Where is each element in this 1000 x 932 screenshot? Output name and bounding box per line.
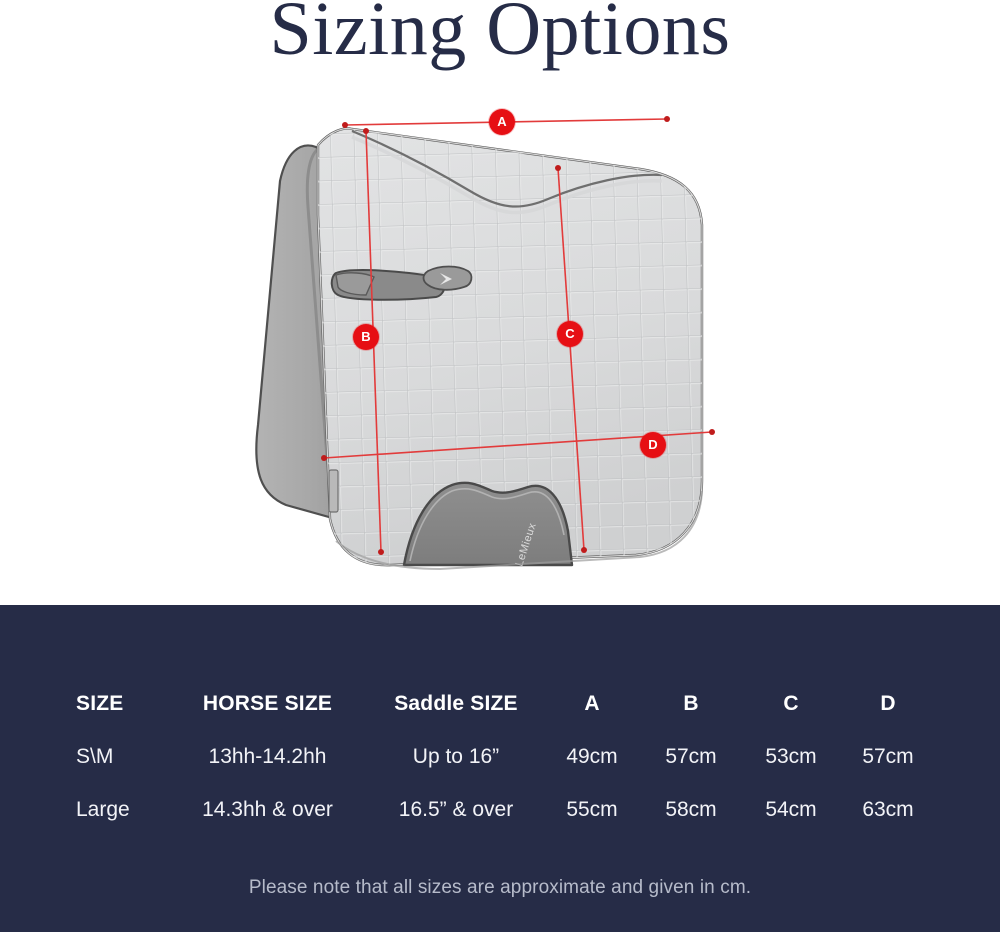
table-row: S\M 13hh-14.2hh Up to 16” 49cm 57cm 53cm…: [0, 730, 1000, 783]
cell-c: 53cm: [756, 730, 826, 783]
size-disclaimer-note: Please note that all sizes are approxima…: [0, 877, 1000, 899]
pad-logo-tab: [424, 267, 472, 290]
measure-marker-b: B: [353, 324, 379, 350]
saddle-pad-illustration: LeMieux LeMieux: [0, 95, 1000, 605]
cell-b: 58cm: [656, 783, 726, 836]
page-title: Sizing Options: [0, 0, 1000, 74]
cell-a: 49cm: [557, 730, 627, 783]
column-header-horse-size: HORSE SIZE: [196, 677, 339, 730]
measure-marker-d: D: [640, 432, 666, 458]
cell-saddle-size: Up to 16”: [383, 730, 529, 783]
measure-marker-c: C: [557, 321, 583, 347]
column-header-c: C: [756, 677, 826, 730]
column-header-saddle-size: Saddle SIZE: [383, 677, 529, 730]
column-header-b: B: [656, 677, 726, 730]
cell-c: 54cm: [756, 783, 826, 836]
size-table: SIZE HORSE SIZE Saddle SIZE A B C D S\M …: [0, 605, 1000, 836]
cell-d: 63cm: [853, 783, 923, 836]
saddle-pad-diagram: LeMieux LeMieux: [0, 95, 1000, 605]
measure-marker-a: A: [489, 109, 515, 135]
sizing-options-page: Sizing Options: [0, 0, 1000, 932]
size-specification-panel: SIZE HORSE SIZE Saddle SIZE A B C D S\M …: [0, 605, 1000, 932]
column-header-a: A: [557, 677, 627, 730]
column-header-d: D: [853, 677, 923, 730]
cell-a: 55cm: [557, 783, 627, 836]
cell-horse-size: 14.3hh & over: [196, 783, 339, 836]
cell-d: 57cm: [853, 730, 923, 783]
cell-size: Large: [76, 783, 130, 836]
pad-girth-guard: LeMieux LeMieux: [404, 483, 572, 605]
table-row: Large 14.3hh & over 16.5” & over 55cm 58…: [0, 783, 1000, 836]
title-area: Sizing Options: [0, 0, 1000, 95]
cell-horse-size: 13hh-14.2hh: [196, 730, 339, 783]
column-header-size: SIZE: [76, 677, 123, 730]
cell-b: 57cm: [656, 730, 726, 783]
cell-size: S\M: [76, 730, 113, 783]
table-header-row: SIZE HORSE SIZE Saddle SIZE A B C D: [0, 677, 1000, 730]
pad-side-label: [329, 470, 338, 512]
cell-saddle-size: 16.5” & over: [383, 783, 529, 836]
